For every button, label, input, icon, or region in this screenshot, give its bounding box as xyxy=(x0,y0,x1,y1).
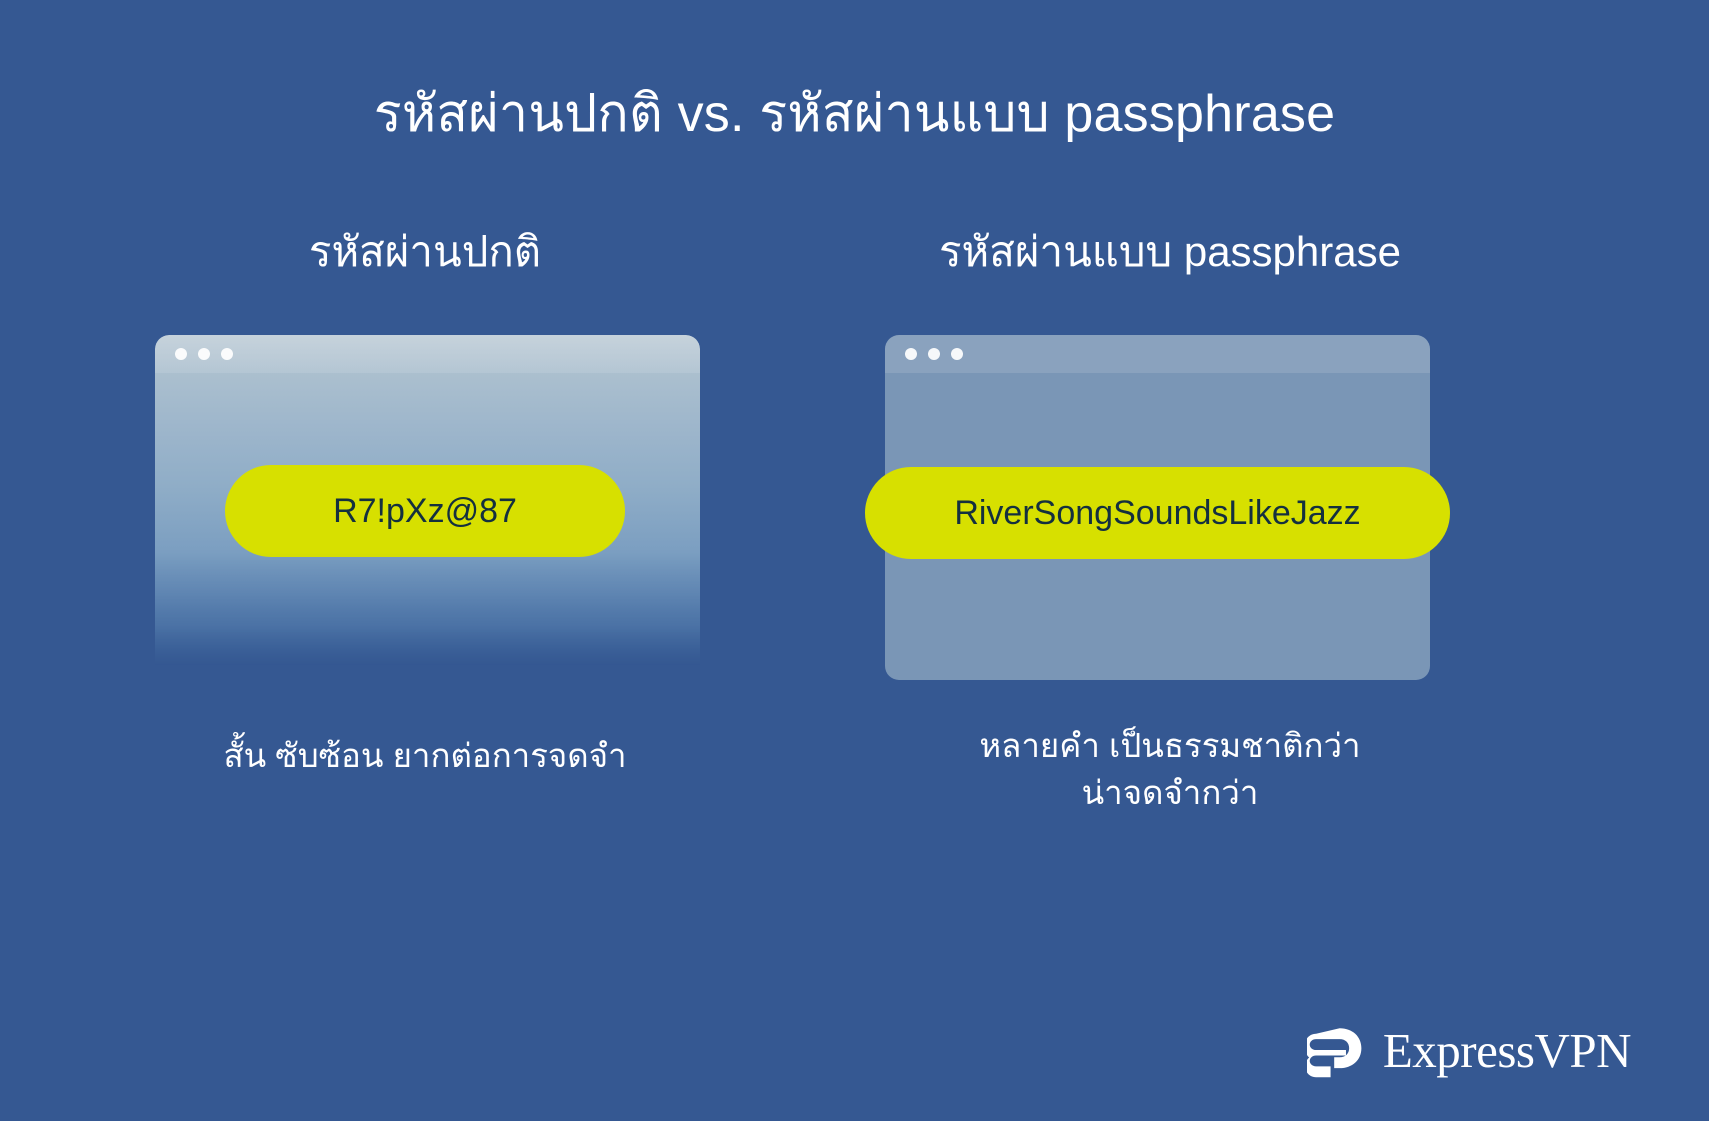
caption-line: น่าจดจำกว่า xyxy=(790,770,1550,817)
window-dot-maximize-icon xyxy=(951,348,963,360)
column-heading-regular-password: รหัสผ่านปกติ xyxy=(45,225,805,280)
browser-window-regular-password: R7!pXz@87 xyxy=(155,335,700,665)
page-title: รหัสผ่านปกติ vs. รหัสผ่านแบบ passphrase xyxy=(0,82,1709,147)
window-dot-minimize-icon xyxy=(198,348,210,360)
brand-logo: ExpressVPN xyxy=(1307,1021,1631,1079)
caption-line: สั้น ซับซ้อน ยากต่อการจดจำ xyxy=(45,733,805,780)
window-titlebar xyxy=(885,335,1430,373)
browser-window-passphrase: RiverSongSoundsLikeJazz xyxy=(885,335,1430,680)
caption-line: หลายคำ เป็นธรรมชาติกว่า xyxy=(790,723,1550,770)
window-dot-close-icon xyxy=(905,348,917,360)
column-passphrase: รหัสผ่านแบบ passphrase RiverSongSoundsLi… xyxy=(790,225,1550,905)
column-heading-passphrase: รหัสผ่านแบบ passphrase xyxy=(790,225,1550,280)
password-pill-passphrase[interactable]: RiverSongSoundsLikeJazz xyxy=(865,467,1450,559)
caption-passphrase: หลายคำ เป็นธรรมชาติกว่า น่าจดจำกว่า xyxy=(790,723,1550,817)
comparison-columns: รหัสผ่านปกติ R7!pXz@87 สั้น ซับซ้อน ยากต… xyxy=(0,225,1709,905)
brand-wordmark: ExpressVPN xyxy=(1383,1026,1631,1075)
window-titlebar xyxy=(155,335,700,373)
window-dot-close-icon xyxy=(175,348,187,360)
column-regular-password: รหัสผ่านปกติ R7!pXz@87 สั้น ซับซ้อน ยากต… xyxy=(45,225,805,905)
caption-regular-password: สั้น ซับซ้อน ยากต่อการจดจำ xyxy=(45,733,805,780)
password-pill-regular[interactable]: R7!pXz@87 xyxy=(225,465,625,557)
expressvpn-logo-icon xyxy=(1307,1021,1365,1079)
window-dot-minimize-icon xyxy=(928,348,940,360)
window-dot-maximize-icon xyxy=(221,348,233,360)
